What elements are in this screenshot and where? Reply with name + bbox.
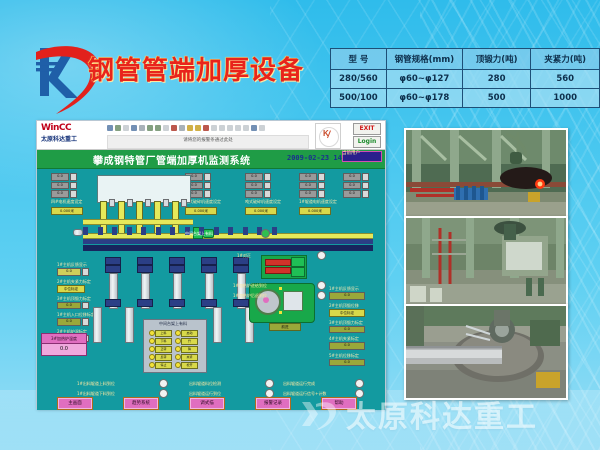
hmi-alarm-hint: 请将您的报警条通过此处 xyxy=(108,136,308,146)
param-value[interactable]: 0.0 xyxy=(51,190,69,198)
spec-table-header-row: 型 号 钢管规格(mm) 顶锻力(吨) 夹紧力(吨) xyxy=(331,49,600,70)
sep-icon xyxy=(139,125,145,131)
operator-panel-title: 中间台架上有料 xyxy=(159,321,187,327)
spec-table: 型 号 钢管规格(mm) 顶锻力(吨) 夹紧力(吨) 280/560 φ60~φ… xyxy=(330,48,600,108)
nav-button-trend[interactable]: 趋势系统 xyxy=(123,397,159,410)
nav-button-alarm[interactable]: 报警记录 xyxy=(255,397,291,410)
hmi-system-title: 攀成钢特管厂管端加厚机监测系统 xyxy=(93,152,251,167)
right-param-value[interactable]: 0.0 xyxy=(329,359,365,367)
furnace-cap xyxy=(145,199,151,207)
left-param-value[interactable]: 0.0 xyxy=(57,268,81,276)
param-total: 0.000米 xyxy=(185,207,217,215)
param-value[interactable]: 0.0 xyxy=(245,182,263,190)
status-lamp xyxy=(317,251,326,260)
roller-tooth xyxy=(98,227,103,235)
photo-furnace-line-image xyxy=(406,130,566,216)
hydraulic-cylinder xyxy=(93,307,102,343)
param-unit xyxy=(318,190,325,198)
left-param-value[interactable]: 0.0 xyxy=(57,302,81,310)
zoom-icon[interactable] xyxy=(251,125,257,131)
right-param-value[interactable]: 0.0 xyxy=(329,326,365,334)
hmi-toolbar: WinCC 太原科达重工 xyxy=(37,121,385,150)
list-icon[interactable] xyxy=(219,125,225,131)
spec-header-model: 型 号 xyxy=(331,49,387,70)
panel-button[interactable]: 启动 xyxy=(181,330,198,337)
param-value[interactable]: 0.0 xyxy=(245,173,263,181)
heater-bar xyxy=(265,267,291,274)
spec-header-size: 钢管规格(mm) xyxy=(386,49,462,70)
roller-tooth xyxy=(112,227,117,235)
clamp-block xyxy=(169,299,185,307)
clamp-block xyxy=(233,265,249,273)
lamp-label: 1#加热炉进给到位 xyxy=(233,283,267,289)
table-row: 280/560 φ60~φ127 280 560 xyxy=(331,70,600,89)
spec-cell-clamp: 1000 xyxy=(531,89,600,108)
roller-tooth xyxy=(272,227,277,235)
clamp-head xyxy=(291,267,305,277)
lamp-label: 出料辊道料位检测 xyxy=(189,381,221,387)
spec-cell-clamp: 560 xyxy=(531,70,600,89)
param-unit xyxy=(264,190,271,198)
param-unit xyxy=(362,173,369,181)
param-unit xyxy=(70,182,77,190)
param-group: 0.0 0.0 0.0 xyxy=(343,173,369,199)
open-icon[interactable] xyxy=(107,125,113,131)
refresh-icon[interactable] xyxy=(115,125,121,131)
alarm-icon[interactable] xyxy=(171,125,177,131)
clamp-block xyxy=(201,257,217,265)
center-stock-label: 中间台架上有料 xyxy=(185,231,213,237)
watermark-logo-icon xyxy=(300,396,340,432)
roller-bed-lower xyxy=(83,245,373,251)
spec-header-upset: 顶锻力(吨) xyxy=(462,49,531,70)
warning-icon[interactable] xyxy=(187,125,193,131)
clamp-block xyxy=(105,265,121,273)
right-param-value[interactable]: 0.0 xyxy=(329,292,365,300)
param-total: 0.000米 xyxy=(245,207,277,215)
print-icon[interactable] xyxy=(123,125,129,131)
status-lamp xyxy=(159,389,168,398)
param-value[interactable]: 0.0 xyxy=(343,182,361,190)
clamp-block xyxy=(137,257,153,265)
right-param-label: 3#主机顶锻力标定 xyxy=(329,320,365,326)
status-lamp xyxy=(355,379,364,388)
sep2-icon xyxy=(179,125,185,131)
param-unit xyxy=(204,182,211,190)
spec-header-clamp: 夹紧力(吨) xyxy=(531,49,600,70)
param-group-label: 吨式破碎机速度设定 xyxy=(245,199,281,205)
spec-cell-model: 280/560 xyxy=(331,70,387,89)
roller-tooth xyxy=(127,227,132,235)
page-title: 钢管管端加厚设备 xyxy=(88,50,304,87)
left-param-value[interactable]: 0.0 xyxy=(57,318,81,326)
clamp-block xyxy=(137,265,153,273)
export-icon[interactable] xyxy=(243,125,249,131)
param-group-label: 四#电机速度设定 xyxy=(51,199,83,205)
photo-furnace-line xyxy=(404,128,568,218)
hmi-toolbar-icons[interactable] xyxy=(107,122,307,134)
gauge-mark: K xyxy=(323,129,329,138)
copy-icon[interactable] xyxy=(131,125,137,131)
photo-workshop-image xyxy=(406,218,566,304)
feed-rail xyxy=(83,219,193,225)
bell-icon[interactable] xyxy=(195,125,201,131)
roller-teeth-row xyxy=(83,227,373,235)
param-value[interactable]: 0.0 xyxy=(299,190,317,198)
param-value[interactable]: 0.0 xyxy=(343,190,361,198)
furnace-cap xyxy=(127,199,133,207)
roller-tooth xyxy=(228,227,233,235)
nav-button-main[interactable]: 主画面 xyxy=(57,397,93,410)
status-lamp xyxy=(317,281,326,290)
spec-cell-size: φ60~φ127 xyxy=(386,70,462,89)
roller-tooth xyxy=(156,227,161,235)
press-led xyxy=(279,287,282,290)
clamp-block xyxy=(201,299,217,307)
left-param-value[interactable]: 中位标定 xyxy=(57,285,85,293)
grid-icon[interactable] xyxy=(211,125,217,131)
param-group: 0.0 0.0 0.0 1#辊道电机速度设定 0.000米 xyxy=(299,173,337,215)
valve-icon xyxy=(73,229,83,236)
param-group: 0.0 0.0 0.0 吨式破碎机速度设定 0.000米 xyxy=(245,173,281,215)
exit-button[interactable]: EXIT xyxy=(353,123,381,135)
spec-cell-size: φ60~φ178 xyxy=(386,89,462,108)
hmi-screenshot: WinCC 太原科达重工 xyxy=(36,120,386,409)
param-total: 0.000米 xyxy=(51,207,83,215)
slide-root: 钢管管端加厚设备 型 号 钢管规格(mm) 顶锻力(吨) 夹紧力(吨) 280/… xyxy=(0,0,600,450)
spec-cell-upset: 500 xyxy=(462,89,531,108)
right-param-value[interactable]: 中位标定 xyxy=(329,309,365,317)
hydraulic-cylinder xyxy=(125,307,134,343)
param-unit xyxy=(264,173,271,181)
furnace-cap xyxy=(163,199,169,207)
lamp-label: 出料辊道运行完成 xyxy=(283,381,315,387)
panel-button[interactable]: 下料 xyxy=(155,338,172,345)
param-value[interactable]: 0.0 xyxy=(51,173,69,181)
furnace-cap xyxy=(181,199,187,207)
param-unit xyxy=(362,190,369,198)
hmi-title-bar: 攀成钢特管厂管端加厚机监测系统 2009-02-23 14:29:24 当前用户 xyxy=(37,150,385,169)
hmi-user-box: 当前用户 xyxy=(342,151,382,162)
photo-pipe-end xyxy=(404,304,568,400)
roller-tooth xyxy=(170,227,175,235)
left-param-unit xyxy=(82,318,89,326)
status-lamp xyxy=(265,379,274,388)
param-value[interactable]: 0.0 xyxy=(343,173,361,181)
status-lamp xyxy=(159,379,168,388)
status-lamp xyxy=(317,291,326,300)
center-stock-lamp xyxy=(261,229,270,238)
filter-icon[interactable] xyxy=(155,125,161,131)
nav-button-debug[interactable]: 调式描 xyxy=(189,397,225,410)
sort-icon[interactable] xyxy=(163,125,169,131)
wincc-logo: WinCC 太原科达重工 xyxy=(41,123,103,143)
table-icon[interactable] xyxy=(227,125,233,131)
param-value[interactable]: 0.0 xyxy=(299,173,317,181)
login-button[interactable]: Login xyxy=(353,136,381,148)
param-unit xyxy=(204,190,211,198)
lamp-label: 1#出料辊道上料到位 xyxy=(77,381,115,387)
param-unit xyxy=(70,190,77,198)
hmi-canvas: 0.0 0.0 0.0 四#电机速度设定 0.000米 0.0 0.0 0.0 … xyxy=(37,169,385,410)
press-status: 前进 xyxy=(269,323,301,331)
photo-workshop xyxy=(404,216,568,306)
check-icon[interactable] xyxy=(147,125,153,131)
clamp-block xyxy=(201,265,217,273)
clamp-block xyxy=(105,299,121,307)
panel-button[interactable]: 反转 xyxy=(155,354,172,361)
photo-pipe-end-image xyxy=(406,306,566,398)
roller-tooth xyxy=(243,227,248,235)
hmi-user-caption: 当前用户 xyxy=(342,151,360,156)
panel-button[interactable]: 降 xyxy=(181,346,198,353)
panel-button[interactable]: 夹紧 xyxy=(181,354,198,361)
panel-button[interactable]: 正转 xyxy=(155,346,172,353)
param-value[interactable]: 0.0 xyxy=(245,190,263,198)
furnace-cap xyxy=(109,199,115,207)
lamp-label: 1#对正 xyxy=(237,253,251,259)
clamp-block xyxy=(169,265,185,273)
press-display xyxy=(283,291,303,311)
param-group: 0.0 0.0 0.0 四#电机速度设定 0.000米 xyxy=(51,173,83,215)
wincc-subtitle: 太原科达重工 xyxy=(41,134,103,143)
param-group-label: 1#辊道电机速度设定 xyxy=(299,199,337,205)
right-param-stack: 1#主机反馈显示 0.0 2#主机顶锻位移 中位标定 3#主机顶锻力标定 0.0… xyxy=(329,285,365,366)
roller-tooth xyxy=(141,227,146,235)
panel-button[interactable]: 停止 xyxy=(155,362,172,369)
clamp-block xyxy=(137,299,153,307)
left-param-unit xyxy=(82,268,89,276)
param-unit xyxy=(264,182,271,190)
clamp-block xyxy=(105,257,121,265)
param-unit xyxy=(362,182,369,190)
clamp-block xyxy=(233,299,249,307)
param-unit xyxy=(318,182,325,190)
param-unit xyxy=(204,173,211,181)
person-icon[interactable] xyxy=(203,125,209,131)
left-param-stack: 1#主机反馈显示 0.0 2#主机夹紧力标定 中位标定 3#主机顶锻力标定 0.… xyxy=(57,261,95,342)
heater-bar xyxy=(265,259,291,266)
roller-tooth xyxy=(214,227,219,235)
clamp-block xyxy=(169,257,185,265)
param-value[interactable]: 0.0 xyxy=(51,182,69,190)
heater-temp-value: 0.0 xyxy=(41,343,87,356)
clock-gauge-icon: K xyxy=(315,123,341,149)
clamp-head xyxy=(291,257,305,267)
spec-cell-model: 500/100 xyxy=(331,89,387,108)
spec-cell-upset: 280 xyxy=(462,70,531,89)
hmi-alarm-strip: 请将您的报警条通过此处 xyxy=(107,135,309,149)
lamp-label: 1#加热炉后退到位 xyxy=(233,293,267,299)
watermark: 太原科达重工 xyxy=(300,392,538,436)
watermark-text: 太原科达重工 xyxy=(346,392,538,436)
param-unit xyxy=(318,173,325,181)
param-unit xyxy=(70,173,77,181)
param-value[interactable]: 0.0 xyxy=(299,182,317,190)
wincc-wordmark: WinCC xyxy=(41,123,103,133)
roller-tooth xyxy=(83,227,88,235)
help-icon[interactable] xyxy=(259,125,265,131)
press-led xyxy=(279,311,282,314)
panel-button[interactable]: 松开 xyxy=(181,362,198,369)
param-total: 0.000米 xyxy=(299,207,331,215)
hydraulic-cylinder xyxy=(213,307,222,343)
chart-icon[interactable] xyxy=(235,125,241,131)
roller-bed xyxy=(83,239,373,244)
panel-button[interactable]: 升 xyxy=(181,338,198,345)
table-row: 500/100 φ60~φ178 500 1000 xyxy=(331,89,600,108)
right-param-value[interactable]: 0.0 xyxy=(329,342,365,350)
panel-button[interactable]: 上料 xyxy=(155,330,172,337)
left-param-unit xyxy=(82,302,89,310)
